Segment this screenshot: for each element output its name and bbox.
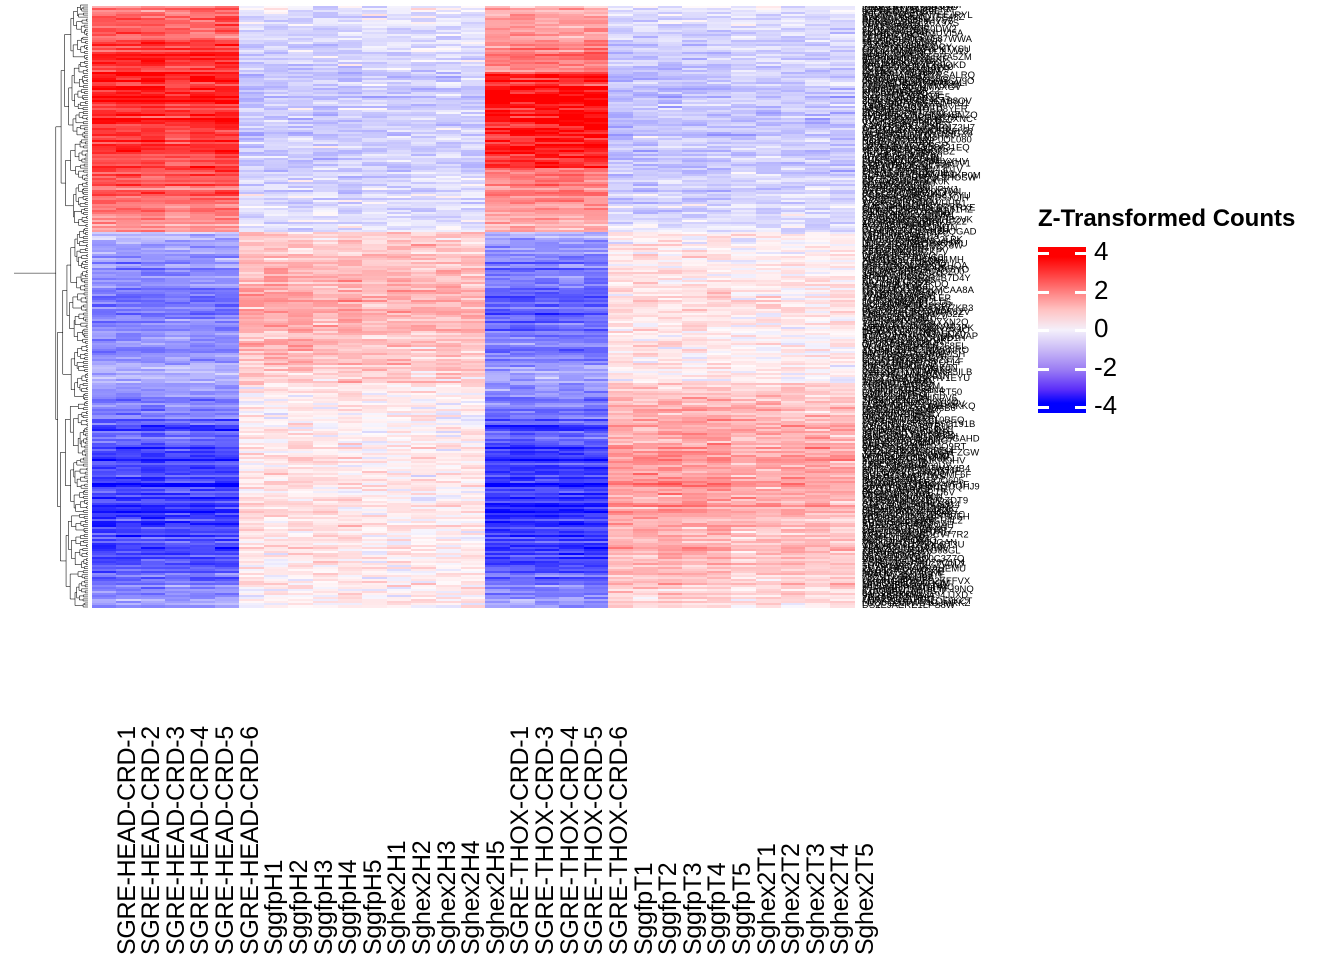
legend-tick-mark: [1075, 291, 1086, 294]
column-label: SggfpH3: [312, 860, 337, 955]
legend-tick-mark: [1038, 252, 1049, 255]
legend-tick-label: -4: [1094, 392, 1117, 418]
column-label: Sghex2H3: [435, 841, 460, 955]
column-label: Sghex2H4: [459, 841, 484, 955]
column-label: SggfpT3: [681, 863, 706, 955]
legend-tick-mark: [1038, 329, 1049, 332]
legend-tick-mark: [1038, 291, 1049, 294]
column-label: Sghex2T1: [755, 843, 780, 955]
column-label: Sghex2T4: [828, 843, 853, 955]
column-label: SGRE-HEAD-CRD-1: [115, 726, 140, 955]
column-label: SGRE-HEAD-CRD-2: [139, 726, 164, 955]
row-labels-block: M1NCA2IHKKVEN6ZMJ1BILZBVWX6ZB3QGD1PQFKLP…: [861, 6, 1016, 608]
legend-tick-mark: [1075, 329, 1086, 332]
legend: Z-Transformed Counts 420-2-4: [1036, 205, 1336, 420]
legend-tick-label: 2: [1094, 277, 1108, 303]
dendrogram-svg: [14, 4, 88, 608]
column-labels: SGRE-HEAD-CRD-1SGRE-HEAD-CRD-2SGRE-HEAD-…: [92, 610, 862, 955]
svg-text:DS2EJAERE1LPS8W: DS2EJAERE1LPS8W: [862, 600, 955, 608]
row-dendrogram: [14, 4, 88, 608]
column-label: Sghex2T2: [779, 843, 804, 955]
legend-tick-mark: [1038, 368, 1049, 371]
column-label: SGRE-HEAD-CRD-6: [238, 726, 263, 955]
heatmap-figure: M1NCA2IHKKVEN6ZMJ1BILZBVWX6ZB3QGD1PQFKLP…: [0, 0, 1344, 960]
column-label: SGRE-HEAD-CRD-4: [188, 726, 213, 955]
column-label: SggfpH4: [336, 860, 361, 955]
column-label: Sghex2H1: [385, 841, 410, 955]
column-label: Sghex2H2: [410, 841, 435, 955]
legend-colorbar-wrap: 420-2-4: [1038, 247, 1086, 413]
column-label: SggfpH2: [287, 860, 312, 955]
column-label: SggfpT5: [730, 863, 755, 955]
column-label: SggfpT1: [632, 863, 657, 955]
legend-tick-mark: [1075, 406, 1086, 409]
column-label: SggfpT2: [656, 863, 681, 955]
heatmap-panel[interactable]: [92, 6, 855, 608]
legend-tick-mark: [1038, 406, 1049, 409]
column-label: SggfpT4: [705, 863, 730, 955]
legend-title: Z-Transformed Counts: [1038, 205, 1295, 233]
column-label: SGRE-THOX-CRD-4: [558, 726, 583, 955]
column-label: SGRE-THOX-CRD-1: [508, 726, 533, 955]
column-label: SGRE-THOX-CRD-3: [533, 726, 558, 955]
column-label: Sghex2T5: [853, 843, 878, 955]
heatmap-grid[interactable]: [92, 6, 855, 608]
legend-tick-label: -2: [1094, 354, 1117, 380]
legend-tick-label: 4: [1094, 238, 1108, 264]
column-label: SGRE-THOX-CRD-5: [582, 726, 607, 955]
column-label: SGRE-HEAD-CRD-5: [213, 726, 238, 955]
column-label: SGRE-THOX-CRD-6: [607, 726, 632, 955]
row-labels-svg: M1NCA2IHKKVEN6ZMJ1BILZBVWX6ZB3QGD1PQFKLP…: [861, 6, 1016, 608]
legend-tick-mark: [1075, 368, 1086, 371]
column-label: SggfpH1: [262, 860, 287, 955]
legend-tick-mark: [1075, 252, 1086, 255]
legend-tick-label: 0: [1094, 315, 1108, 341]
